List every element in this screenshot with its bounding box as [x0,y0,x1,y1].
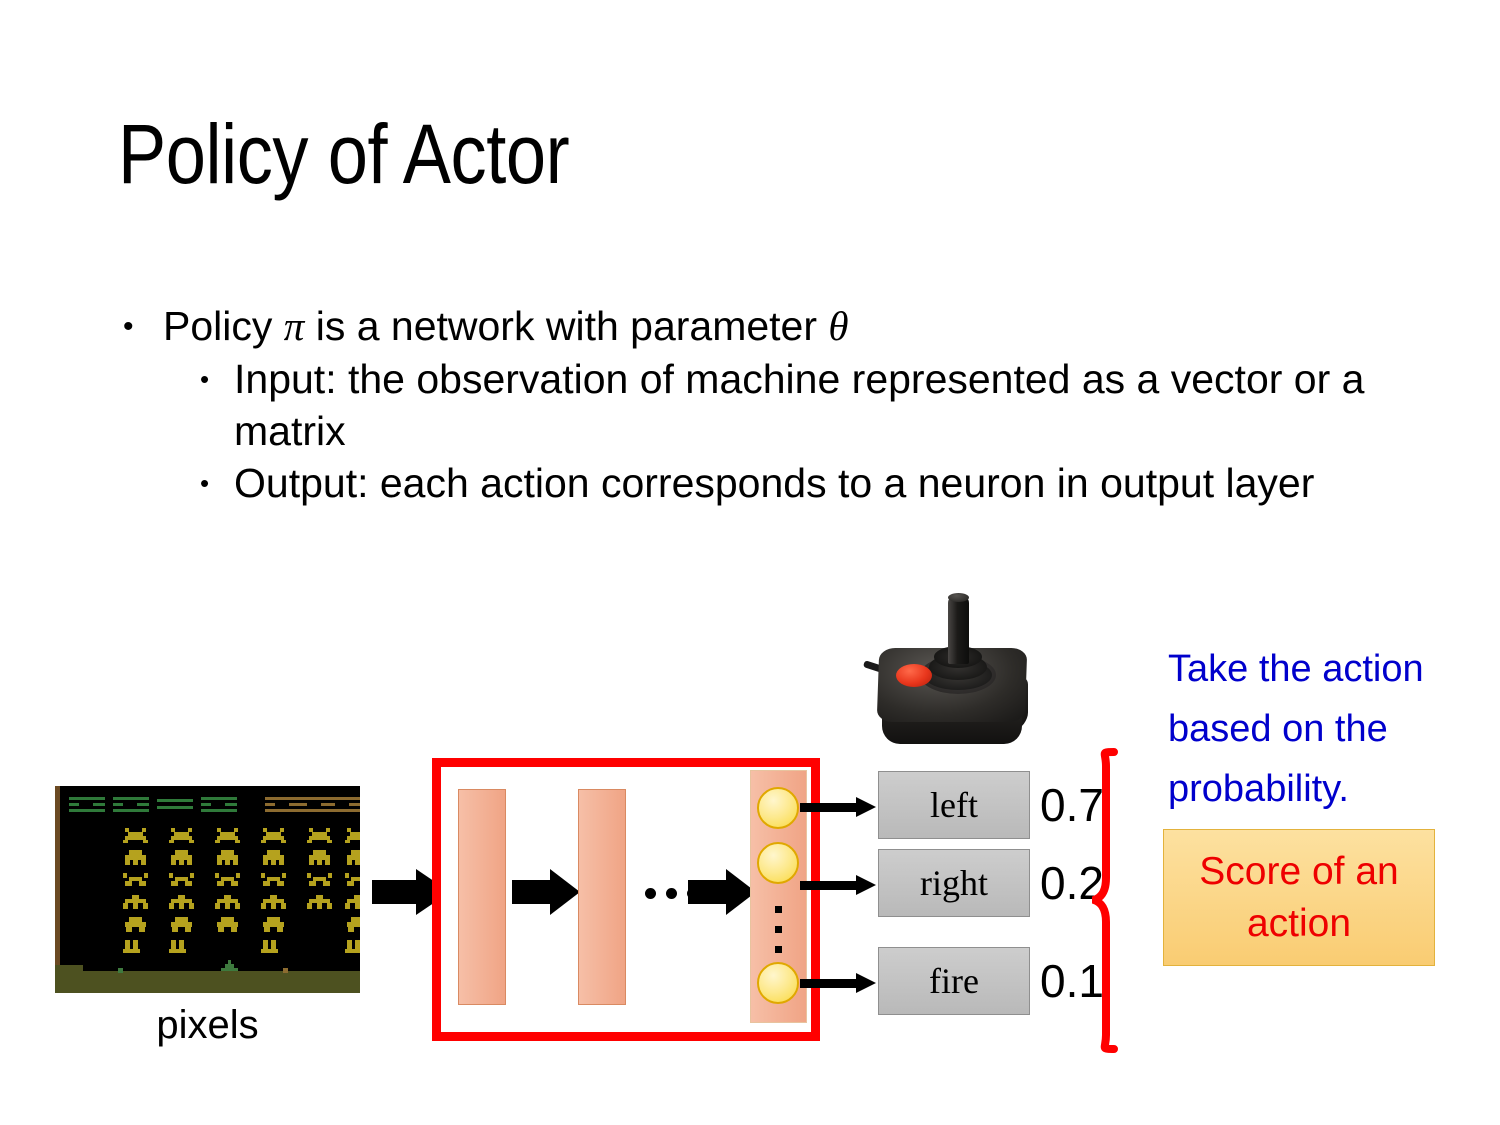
layer-arrow-icon [688,869,756,915]
layer-arrow-icon [512,869,580,915]
vertical-ellipsis-dot-icon [775,946,782,953]
invader-sprite [345,850,360,865]
invader-sprite [307,895,332,910]
game-hud-row [69,797,354,813]
invader-sprite [261,895,286,910]
action-box-right[interactable]: right [878,849,1030,917]
score-of-action-label: Score of an action [1164,846,1434,950]
invader-row [123,917,353,934]
invader-sprite [123,873,148,888]
invader-sprite [169,917,194,932]
joystick-fire-button [896,664,932,687]
output-arrow-icon [800,875,876,895]
output-neuron [757,962,799,1004]
hidden-layer-1 [458,789,506,1005]
slide-canvas: Policy of Actor • Policy π is a network … [0,0,1500,1125]
invader-row [123,940,353,957]
bullet-level2-input: • Input: the observation of machine repr… [196,353,1398,457]
bullet-level2-output: • Output: each action corresponds to a n… [196,457,1398,509]
hidden-layer-2 [578,789,626,1005]
invader-sprite [215,917,240,932]
space-invaders-screenshot [55,786,360,993]
action-box-left[interactable]: left [878,771,1030,839]
invader-sprite [345,828,360,843]
invader-sprite [345,873,360,888]
atari-joystick-icon [858,588,1043,758]
hud-block [113,797,149,812]
vertical-ellipsis-dot-icon [775,926,782,933]
joystick-stick-top [948,593,969,602]
bullet-text: Output: each action corresponds to a neu… [234,457,1384,509]
hud-block [201,797,237,812]
invader-sprite [261,917,286,932]
game-ground [55,971,360,993]
input-caption: pixels [55,1003,360,1048]
invader-sprite [261,940,286,955]
ellipsis-dot-icon [645,888,656,899]
invader-sprite [345,940,360,955]
invader-sprite [123,850,148,865]
bullet-marker-icon: • [123,300,134,353]
hud-block [157,797,193,812]
red-curly-brace-icon [1092,748,1158,1053]
invader-sprite [123,940,148,955]
invader-row [123,873,353,890]
bullet-list: • Policy π is a network with parameter θ… [118,300,1398,509]
invader-sprite [261,873,286,888]
invader-sprite [345,917,360,932]
invader-sprite [261,828,286,843]
greek-theta-symbol: θ [828,303,848,349]
invader-row [123,895,353,912]
invader-sprite [307,828,332,843]
hud-block [353,797,360,812]
output-neuron [757,842,799,884]
invader-sprite [123,917,148,932]
greek-pi-symbol: π [284,303,305,349]
invader-sprite [169,850,194,865]
invader-sprite [261,850,286,865]
invader-sprite [169,895,194,910]
blue-annotation-note: Take the action based on the probability… [1168,639,1498,819]
hud-block [69,797,105,812]
invader-sprite [123,828,148,843]
invader-sprite [169,940,194,955]
output-neuron [757,787,799,829]
invader-sprite [307,850,332,865]
invader-sprite [215,873,240,888]
joystick-stick [948,596,969,664]
bullet-level1-policy: • Policy π is a network with parameter θ [118,300,1398,353]
invader-sprite [215,850,240,865]
score-of-action-box: Score of an action [1163,829,1435,966]
bullet-text: Input: the observation of machine repres… [234,353,1384,457]
invader-sprite [169,828,194,843]
bullet-marker-icon: • [200,457,209,509]
invader-sprite [169,873,194,888]
invader-row [123,828,353,845]
game-left-wall [55,786,60,993]
output-arrow-icon [800,797,876,817]
invader-sprite [215,828,240,843]
invader-sprite [345,895,360,910]
hud-block [265,797,301,812]
action-box-fire[interactable]: fire [878,947,1030,1015]
invader-row [123,850,353,867]
bullet-text: Policy π is a network with parameter θ [163,303,849,349]
invader-sprite [307,873,332,888]
output-arrow-icon [800,973,876,993]
page-title: Policy of Actor [118,112,569,196]
vertical-ellipsis-dot-icon [775,906,782,913]
bullet-marker-icon: • [200,353,209,405]
invader-sprite [215,895,240,910]
ellipsis-dot-icon [666,888,677,899]
invader-sprite [123,895,148,910]
